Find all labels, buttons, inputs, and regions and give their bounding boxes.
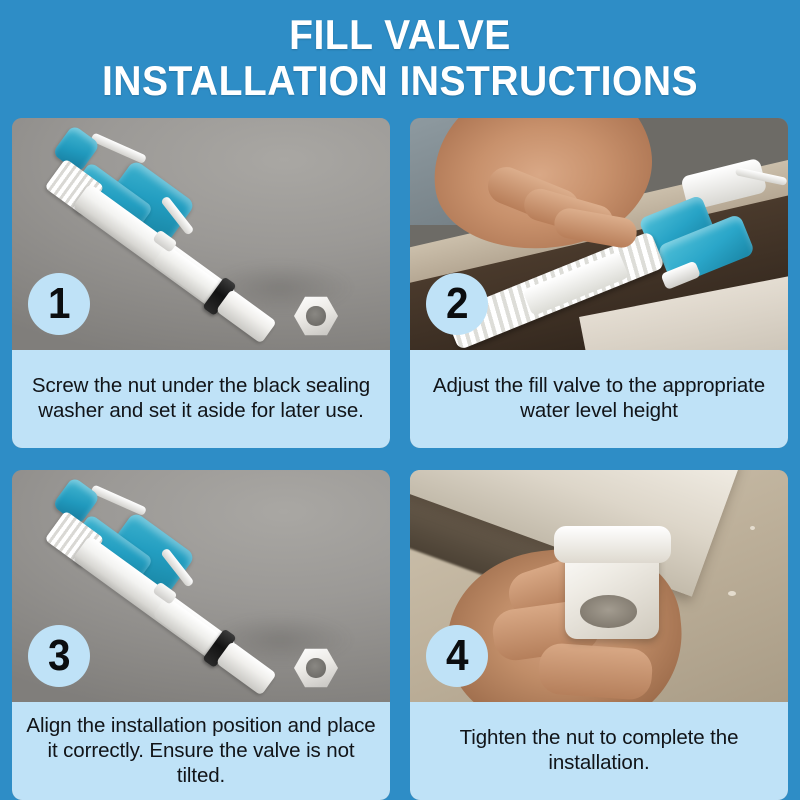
step-number-1: 1 (48, 282, 71, 326)
hex-nut-hole (306, 306, 325, 325)
step-caption-box-1: Screw the nut under the black sealing wa… (12, 350, 390, 448)
step-number-4: 4 (446, 634, 469, 678)
nut-bore (580, 595, 637, 627)
step-caption-4: Tighten the nut to complete the installa… (420, 725, 778, 775)
step-caption-1: Screw the nut under the black sealing wa… (22, 373, 380, 423)
step-badge-2: 2 (426, 273, 488, 335)
valve-float-arm-upper (90, 132, 147, 164)
valve-threaded-tip (216, 289, 277, 344)
step-badge-3: 3 (28, 625, 90, 687)
loose-hex-nut (294, 296, 338, 336)
step-caption-box-3: Align the installation position and plac… (12, 702, 390, 800)
speckle (750, 526, 755, 530)
step-caption-box-4: Tighten the nut to complete the installa… (410, 702, 788, 800)
step-badge-1: 1 (28, 273, 90, 335)
step-number-2: 2 (446, 282, 469, 326)
step-caption-3: Align the installation position and plac… (22, 713, 380, 788)
step-badge-4: 4 (426, 625, 488, 687)
step-card-2: 2 Adjust the fill valve to the appropria… (410, 118, 788, 448)
valve-threaded-tip (216, 641, 277, 696)
fill-valve-instructions-poster: FILL VALVE INSTALLATION INSTRUCTIONS (0, 0, 800, 800)
valve-float-arm-upper (90, 484, 147, 516)
steps-grid: 1 Screw the nut under the black sealing … (12, 118, 788, 778)
step-card-1: 1 Screw the nut under the black sealing … (12, 118, 390, 448)
speckle (728, 591, 736, 596)
step-caption-box-2: Adjust the fill valve to the appropriate… (410, 350, 788, 448)
finger-ring (537, 642, 654, 701)
step-card-3: 3 Align the installation position and pl… (12, 470, 390, 800)
title-line-2: INSTALLATION INSTRUCTIONS (28, 58, 772, 104)
step-number-3: 3 (48, 634, 71, 678)
loose-hex-nut (294, 648, 338, 688)
step-card-4: 4 Tighten the nut to complete the instal… (410, 470, 788, 800)
title-line-1: FILL VALVE (28, 12, 772, 58)
page-title: FILL VALVE INSTALLATION INSTRUCTIONS (0, 12, 800, 104)
step-caption-2: Adjust the fill valve to the appropriate… (420, 373, 778, 423)
hex-nut-hole (306, 658, 325, 677)
nut-flange (554, 526, 671, 563)
